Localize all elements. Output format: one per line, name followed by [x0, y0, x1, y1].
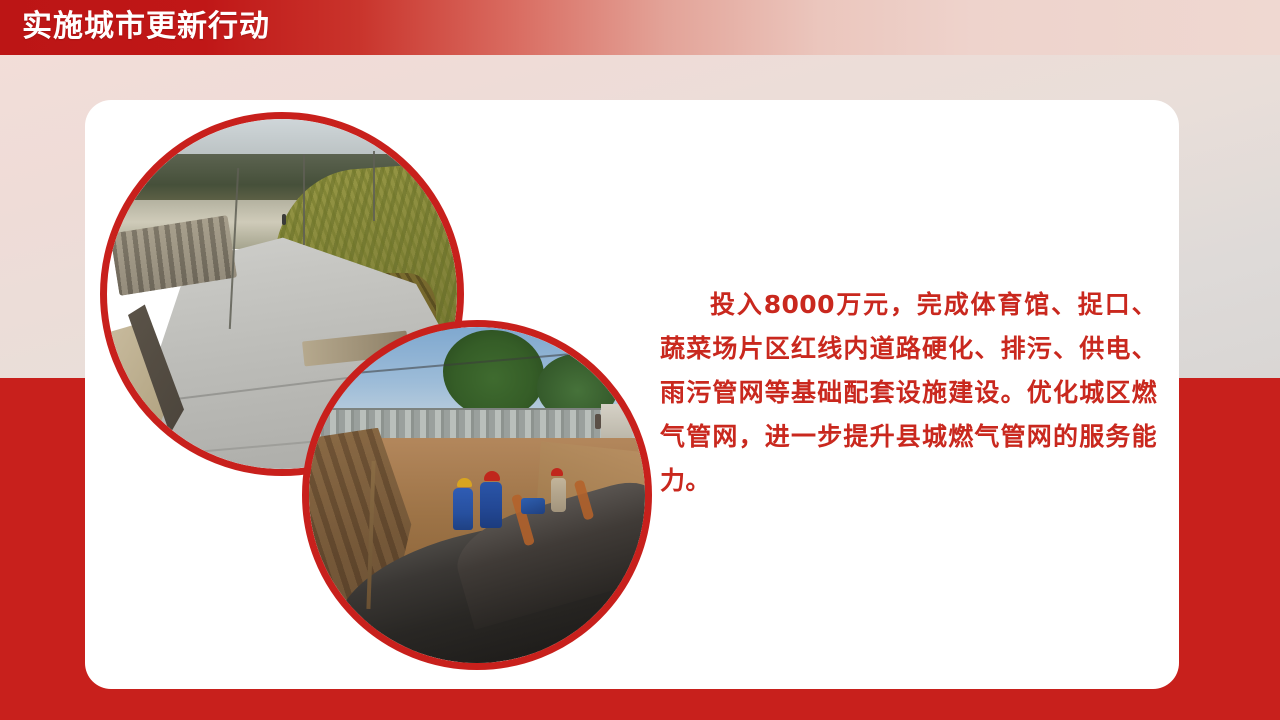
road-utility-pole-2	[303, 154, 305, 245]
pipeline-worker-helmet-red-2	[551, 468, 563, 476]
pipeline-tree-1	[443, 330, 544, 417]
pipeline-photo-scene	[309, 327, 645, 663]
road-distant-person	[282, 214, 286, 225]
pipeline-construction-photo	[302, 320, 652, 670]
body-paragraph: 投入8000万元，完成体育馆、捉口、蔬菜场片区红线内道路硬化、排污、供电、雨污管…	[660, 283, 1157, 503]
pipeline-worker-helmet-red	[484, 471, 500, 481]
road-utility-pole-3	[373, 151, 375, 221]
header-bar: 实施城市更新行动	[0, 0, 1280, 55]
pipeline-worker-helmet-yellow	[457, 478, 472, 487]
pipeline-worker-blue-1	[453, 488, 473, 530]
slide-root: 实施城市更新行动	[0, 0, 1280, 720]
pipeline-worker-blue-2	[480, 482, 502, 528]
pipeline-worker-tan	[551, 478, 566, 512]
pipeline-blue-machine	[521, 498, 545, 514]
pipeline-distant-person	[595, 414, 601, 429]
page-title: 实施城市更新行动	[22, 6, 270, 48]
